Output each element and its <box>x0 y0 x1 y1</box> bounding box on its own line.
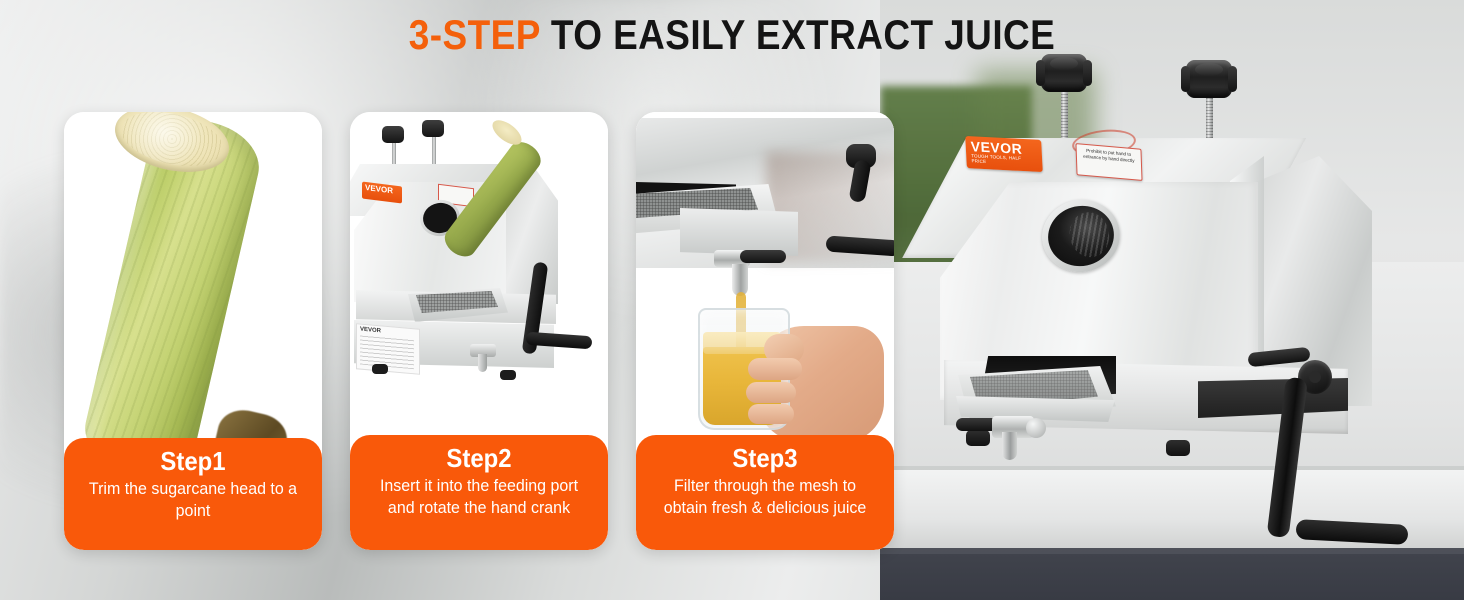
hero-juicer-machine: VEVOR TOUGH TOOLS, HALF PRICE Prohibit t… <box>930 60 1450 550</box>
step-2-description: Insert it into the feeding port and rota… <box>358 473 601 519</box>
hand-finger-2 <box>746 382 796 403</box>
pouring-scene <box>636 112 894 442</box>
mini-foot-left <box>372 364 388 374</box>
step-card-1[interactable]: Step1 Trim the sugarcane head to a point <box>64 112 322 550</box>
mini-spec-lines <box>360 335 414 370</box>
p3-spigot-handle <box>740 250 786 263</box>
vevor-brand-tagline: TOUGH TOOLS, HALF PRICE <box>971 153 1037 167</box>
pressure-knob-right[interactable] <box>1186 60 1232 98</box>
mini-pressure-knob-left <box>382 126 404 143</box>
warning-sticker-text: Prohibit to put hand to entrance by hand… <box>1080 147 1138 164</box>
sugarcane-node <box>210 405 291 442</box>
banner-title-highlight: 3-STEP <box>409 11 540 58</box>
knob-top-right <box>1195 63 1223 76</box>
step-3-description: Filter through the mesh to obtain fresh … <box>644 473 887 519</box>
warning-sticker: Prohibit to put hand to entrance by hand… <box>1075 143 1142 181</box>
hand-finger-1 <box>748 358 802 380</box>
step-1-title: Step1 <box>74 446 311 476</box>
banner-title-rest: TO EASILY EXTRACT JUICE <box>540 11 1055 58</box>
step-2-caption: Step2 Insert it into the feeding port an… <box>350 435 608 550</box>
step-2-title: Step2 <box>360 443 597 473</box>
p3-front-panel <box>680 208 798 256</box>
mini-spec-brand: VEVOR <box>360 327 381 335</box>
step-3-photo <box>636 112 894 442</box>
machine-foot-left <box>966 430 990 446</box>
mini-vevor-text: VEVOR <box>365 183 393 195</box>
machine-foot-right <box>1166 440 1190 456</box>
step-1-photo <box>64 112 322 442</box>
product-banner: VEVOR TOUGH TOOLS, HALF PRICE Prohibit t… <box>0 0 1464 600</box>
mini-pressure-knob-right <box>422 120 444 137</box>
spigot-spout <box>1002 432 1017 460</box>
mini-juicer-illustration: VEVOR VEVOR <box>350 112 608 442</box>
step-3-title: Step3 <box>646 443 883 473</box>
vevor-brand-label: VEVOR TOUGH TOOLS, HALF PRICE <box>965 136 1043 172</box>
hand-finger-3 <box>748 404 794 424</box>
step-3-caption: Step3 Filter through the mesh to obtain … <box>636 435 894 550</box>
banner-title: 3-STEP TO EASILY EXTRACT JUICE <box>88 10 1376 60</box>
mini-foot-right <box>500 370 516 380</box>
spigot-nut <box>1026 418 1046 438</box>
step-2-photo: VEVOR VEVOR <box>350 112 608 442</box>
scene-floor <box>880 548 1464 600</box>
mini-spigot-spout <box>478 354 487 372</box>
step-1-description: Trim the sugarcane head to a point <box>72 476 315 522</box>
mini-spec-plate: VEVOR <box>356 323 420 375</box>
step-card-3[interactable]: Step3 Filter through the mesh to obtain … <box>636 112 894 550</box>
step-1-caption: Step1 Trim the sugarcane head to a point <box>64 438 322 550</box>
feeding-port-interior <box>1042 200 1119 272</box>
step-card-2[interactable]: VEVOR VEVOR <box>350 112 608 550</box>
hand-crank-grip[interactable] <box>1296 519 1409 545</box>
